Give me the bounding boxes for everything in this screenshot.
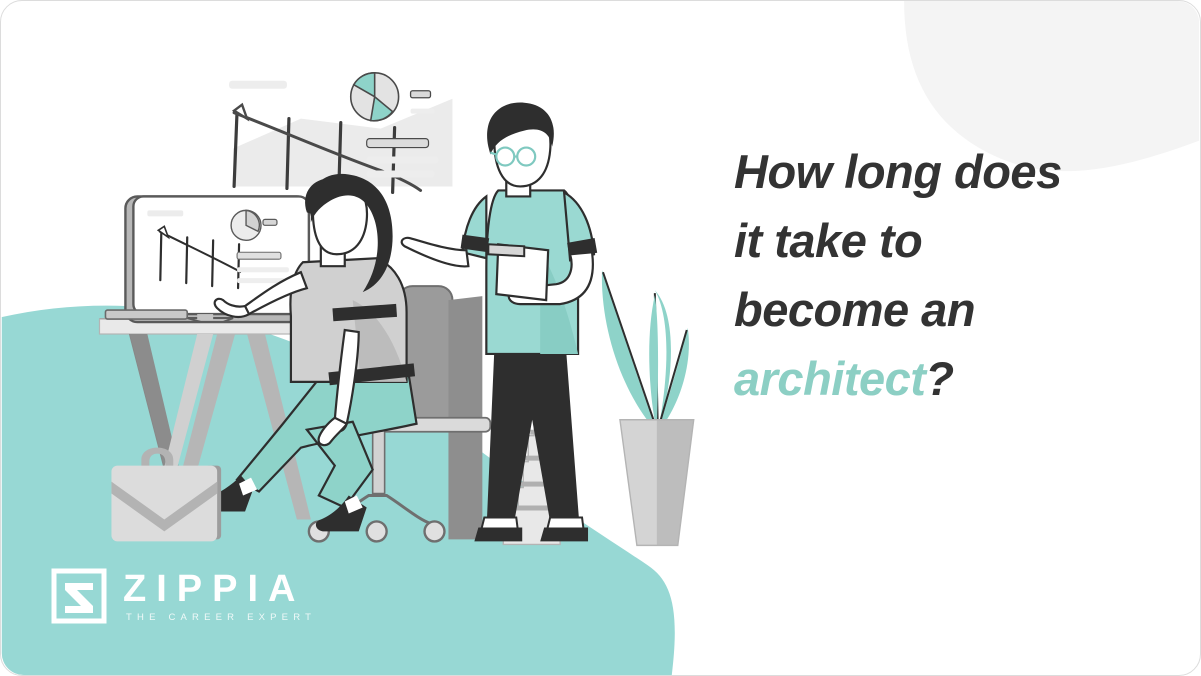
headline-line-1: How long does bbox=[734, 137, 1154, 206]
zippia-wordmark: ZIPPIA bbox=[123, 570, 316, 608]
zippia-tagline: THE CAREER EXPERT bbox=[126, 612, 316, 623]
zippia-logo[interactable]: ZIPPIA THE CAREER EXPERT bbox=[51, 568, 316, 624]
potted-plant bbox=[602, 270, 694, 545]
headline-line-3: become an bbox=[734, 275, 1154, 344]
headline-line-2: it take to bbox=[734, 206, 1154, 275]
headline-line-4: architect? bbox=[734, 344, 1154, 413]
headline-question-mark: ? bbox=[925, 352, 953, 405]
zippia-logo-text: ZIPPIA THE CAREER EXPERT bbox=[123, 570, 316, 623]
promo-card: How long does it take to become an archi… bbox=[0, 0, 1201, 676]
wall-text-placeholders bbox=[367, 139, 439, 178]
headline-accent-word: architect bbox=[734, 352, 925, 405]
keyboard bbox=[105, 310, 187, 319]
headline: How long does it take to become an archi… bbox=[734, 137, 1154, 413]
wall-pie-chart bbox=[351, 73, 435, 121]
zippia-z-icon bbox=[51, 568, 107, 624]
